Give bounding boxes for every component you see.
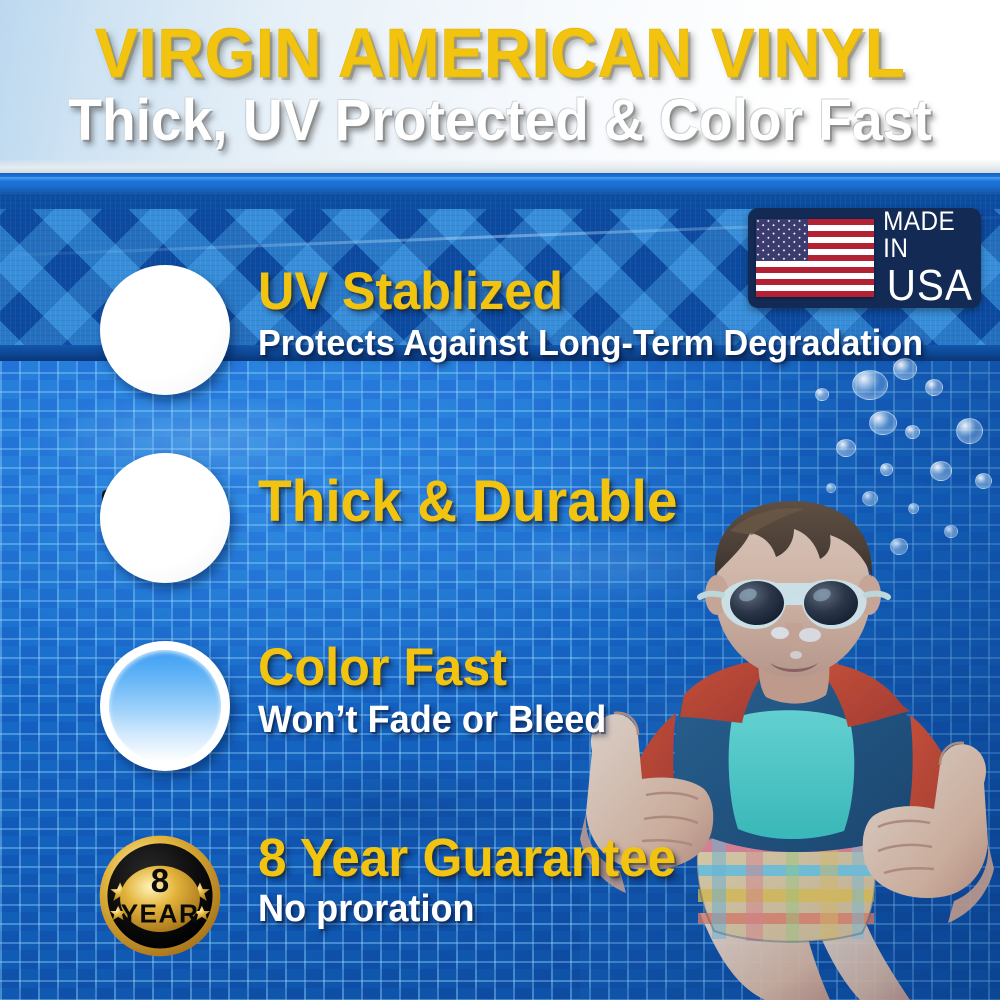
icon-disc [100, 453, 230, 583]
feature-subtitle: Won’t Fade or Bleed [258, 700, 866, 740]
flag-stars [756, 219, 808, 261]
pool-coping-strip [0, 173, 1000, 195]
feature-title: 8 Year Guarantee [258, 831, 866, 885]
guarantee-icon-wrap: 8 YEAR [92, 827, 238, 973]
feature-row-guarantee: 8 YEAR 8 Year Guarantee No proration [0, 831, 1000, 981]
uv-icon-wrap: uv [100, 265, 230, 395]
gold-guarantee-seal-icon: 8 YEAR [87, 822, 233, 968]
feature-row-durable: Thick & Durable [0, 453, 1000, 603]
page-subtitle: Thick, UV Protected & Color Fast [25, 92, 975, 150]
icon-disc [100, 265, 230, 395]
durable-text-block: Thick & Durable [258, 473, 898, 531]
pool-background: MADE IN USA uv [0, 173, 1000, 1000]
feature-subtitle: Protects Against Long-Term Degradation [258, 324, 866, 362]
feature-row-colorfast: Color Fast Won’t Fade or Bleed [0, 641, 1000, 791]
guarantee-text-block: 8 Year Guarantee No proration [258, 831, 898, 929]
durable-icon-wrap [100, 453, 230, 583]
seal-number: 8 [151, 863, 169, 900]
feature-row-uv: uv UV Stablized Protects Against Long-Te… [0, 265, 1000, 415]
feature-subtitle: No proration [258, 889, 866, 929]
colorfast-text-block: Color Fast Won’t Fade or Bleed [258, 641, 898, 740]
color-gradient-circle-icon [109, 650, 221, 762]
page-title: VIRGIN AMERICAN VINYL [35, 18, 965, 88]
feature-title: Color Fast [258, 641, 866, 694]
made-in-label: MADE IN [883, 208, 976, 262]
colorfast-icon-wrap [100, 641, 230, 771]
uv-text-block: UV Stablized Protects Against Long-Term … [258, 265, 898, 362]
product-feature-poster: VIRGIN AMERICAN VINYL Thick, UV Protecte… [0, 0, 1000, 1000]
feature-title: UV Stablized [258, 265, 866, 318]
poster-header: VIRGIN AMERICAN VINYL Thick, UV Protecte… [0, 0, 1000, 173]
feature-title: Thick & Durable [258, 473, 866, 531]
seal-word: YEAR [121, 898, 200, 928]
